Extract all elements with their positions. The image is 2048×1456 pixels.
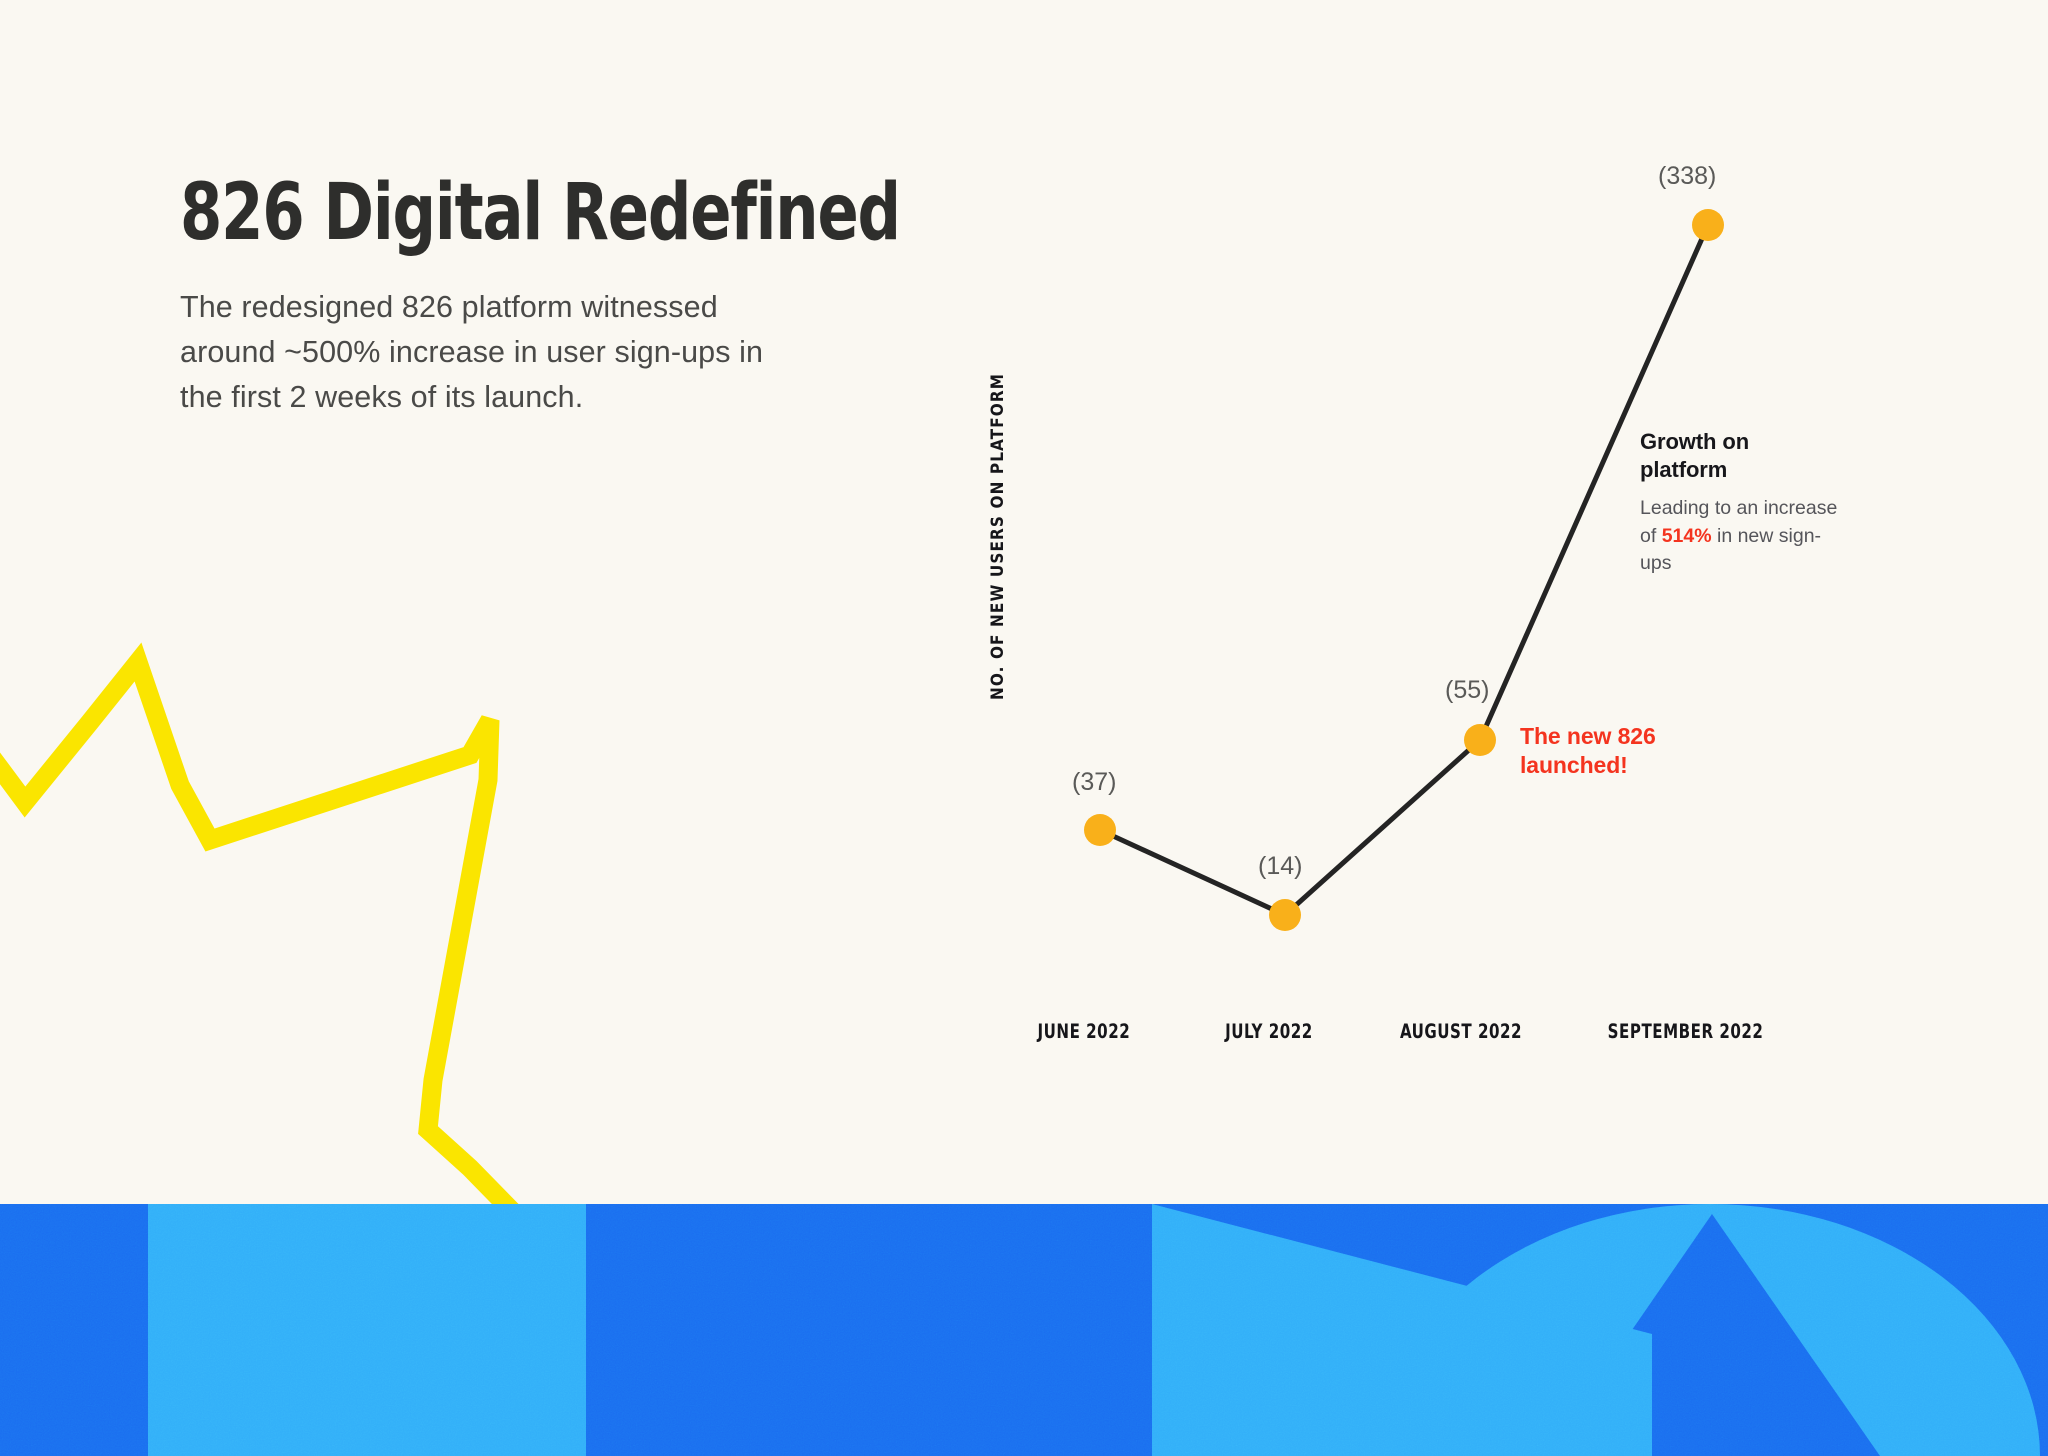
data-label-july: (14) [1258, 852, 1302, 881]
blue-footer-band [0, 1204, 2048, 1456]
x-tick-june: JUNE 2022 [1038, 1020, 1131, 1043]
page-title: 826 Digital Redefined [180, 176, 726, 251]
chart-plot-area [990, 140, 1890, 1040]
data-point-june [1084, 814, 1116, 846]
yellow-star-burst-graphic [0, 540, 600, 1280]
page-subtitle: The redesigned 826 platform witnessed ar… [180, 285, 800, 420]
data-label-june: (37) [1072, 768, 1116, 797]
intro-copy-block: 826 Digital Redefined The redesigned 826… [180, 176, 880, 420]
annotation-launch: The new 826 launched! [1520, 722, 1750, 780]
annotation-growth: Growth on platform Leading to an increas… [1640, 428, 1840, 578]
x-axis: JUNE 2022 JULY 2022 AUGUST 2022 SEPTEMBE… [990, 1020, 1890, 1060]
annotation-growth-body: Leading to an increase of 514% in new si… [1640, 495, 1840, 578]
data-label-august: (55) [1445, 676, 1489, 705]
x-tick-july: JULY 2022 [1225, 1020, 1313, 1043]
x-tick-august: AUGUST 2022 [1400, 1020, 1522, 1043]
x-tick-september: SEPTEMBER 2022 [1608, 1020, 1764, 1043]
y-axis-label: NO. OF NEW USERS ON PLATFORM [988, 373, 1008, 700]
data-point-july [1269, 899, 1301, 931]
line-chart: NO. OF NEW USERS ON PLATFORM (37) (14) (… [990, 140, 1890, 1070]
poster-canvas: 826 Digital Redefined The redesigned 826… [0, 0, 2048, 1456]
data-point-september [1692, 209, 1724, 241]
data-label-september: (338) [1658, 162, 1716, 191]
series-line [1100, 225, 1708, 915]
band-light-rectangle [148, 1204, 586, 1456]
annotation-growth-highlight: 514% [1662, 525, 1712, 547]
data-point-august [1464, 724, 1496, 756]
annotation-growth-title: Growth on platform [1640, 428, 1840, 483]
